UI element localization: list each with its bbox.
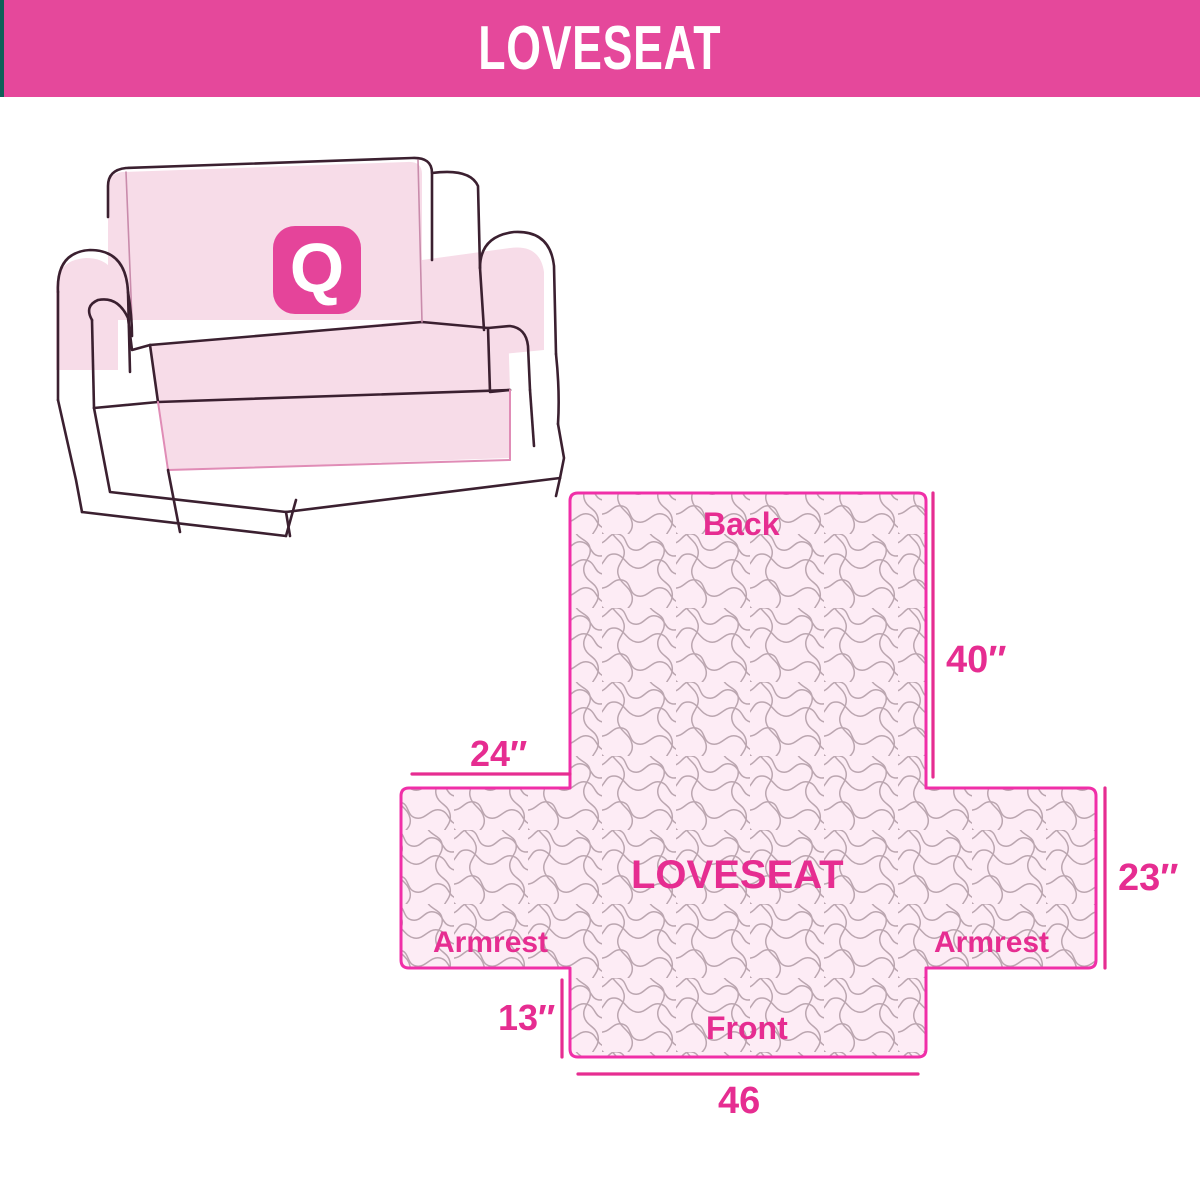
brand-logo-badge: Q <box>273 226 361 314</box>
page-title: LOVESEAT <box>478 18 721 80</box>
dimension-label-body-height: 23″ <box>1118 859 1178 897</box>
logo-letter: Q <box>290 233 344 303</box>
pattern-label-armrest-right: Armrest <box>934 928 1049 958</box>
pattern-label-armrest-left: Armrest <box>433 928 548 958</box>
dimension-label-front-height: 13″ <box>498 1000 555 1036</box>
sofa-back-cover-fill <box>108 162 422 320</box>
sofa-base-left <box>58 400 82 512</box>
sofa-left-arm-cover-fill <box>56 258 118 370</box>
pattern-label-front: Front <box>706 1012 788 1044</box>
dimension-label-armrest-width: 24″ <box>470 736 527 772</box>
pattern-label-back: Back <box>703 508 780 540</box>
header-banner: LOVESEAT <box>0 0 1200 97</box>
sofa-skirt-cover-fill <box>158 390 510 470</box>
pattern-label-center: LOVESEAT <box>631 855 844 895</box>
dimension-label-back-height: 40″ <box>946 641 1006 679</box>
header-edge-strip <box>0 0 4 97</box>
product-dimension-infographic: LOVESEAT <box>0 0 1200 1200</box>
dimension-label-front-width: 46 <box>718 1082 760 1120</box>
